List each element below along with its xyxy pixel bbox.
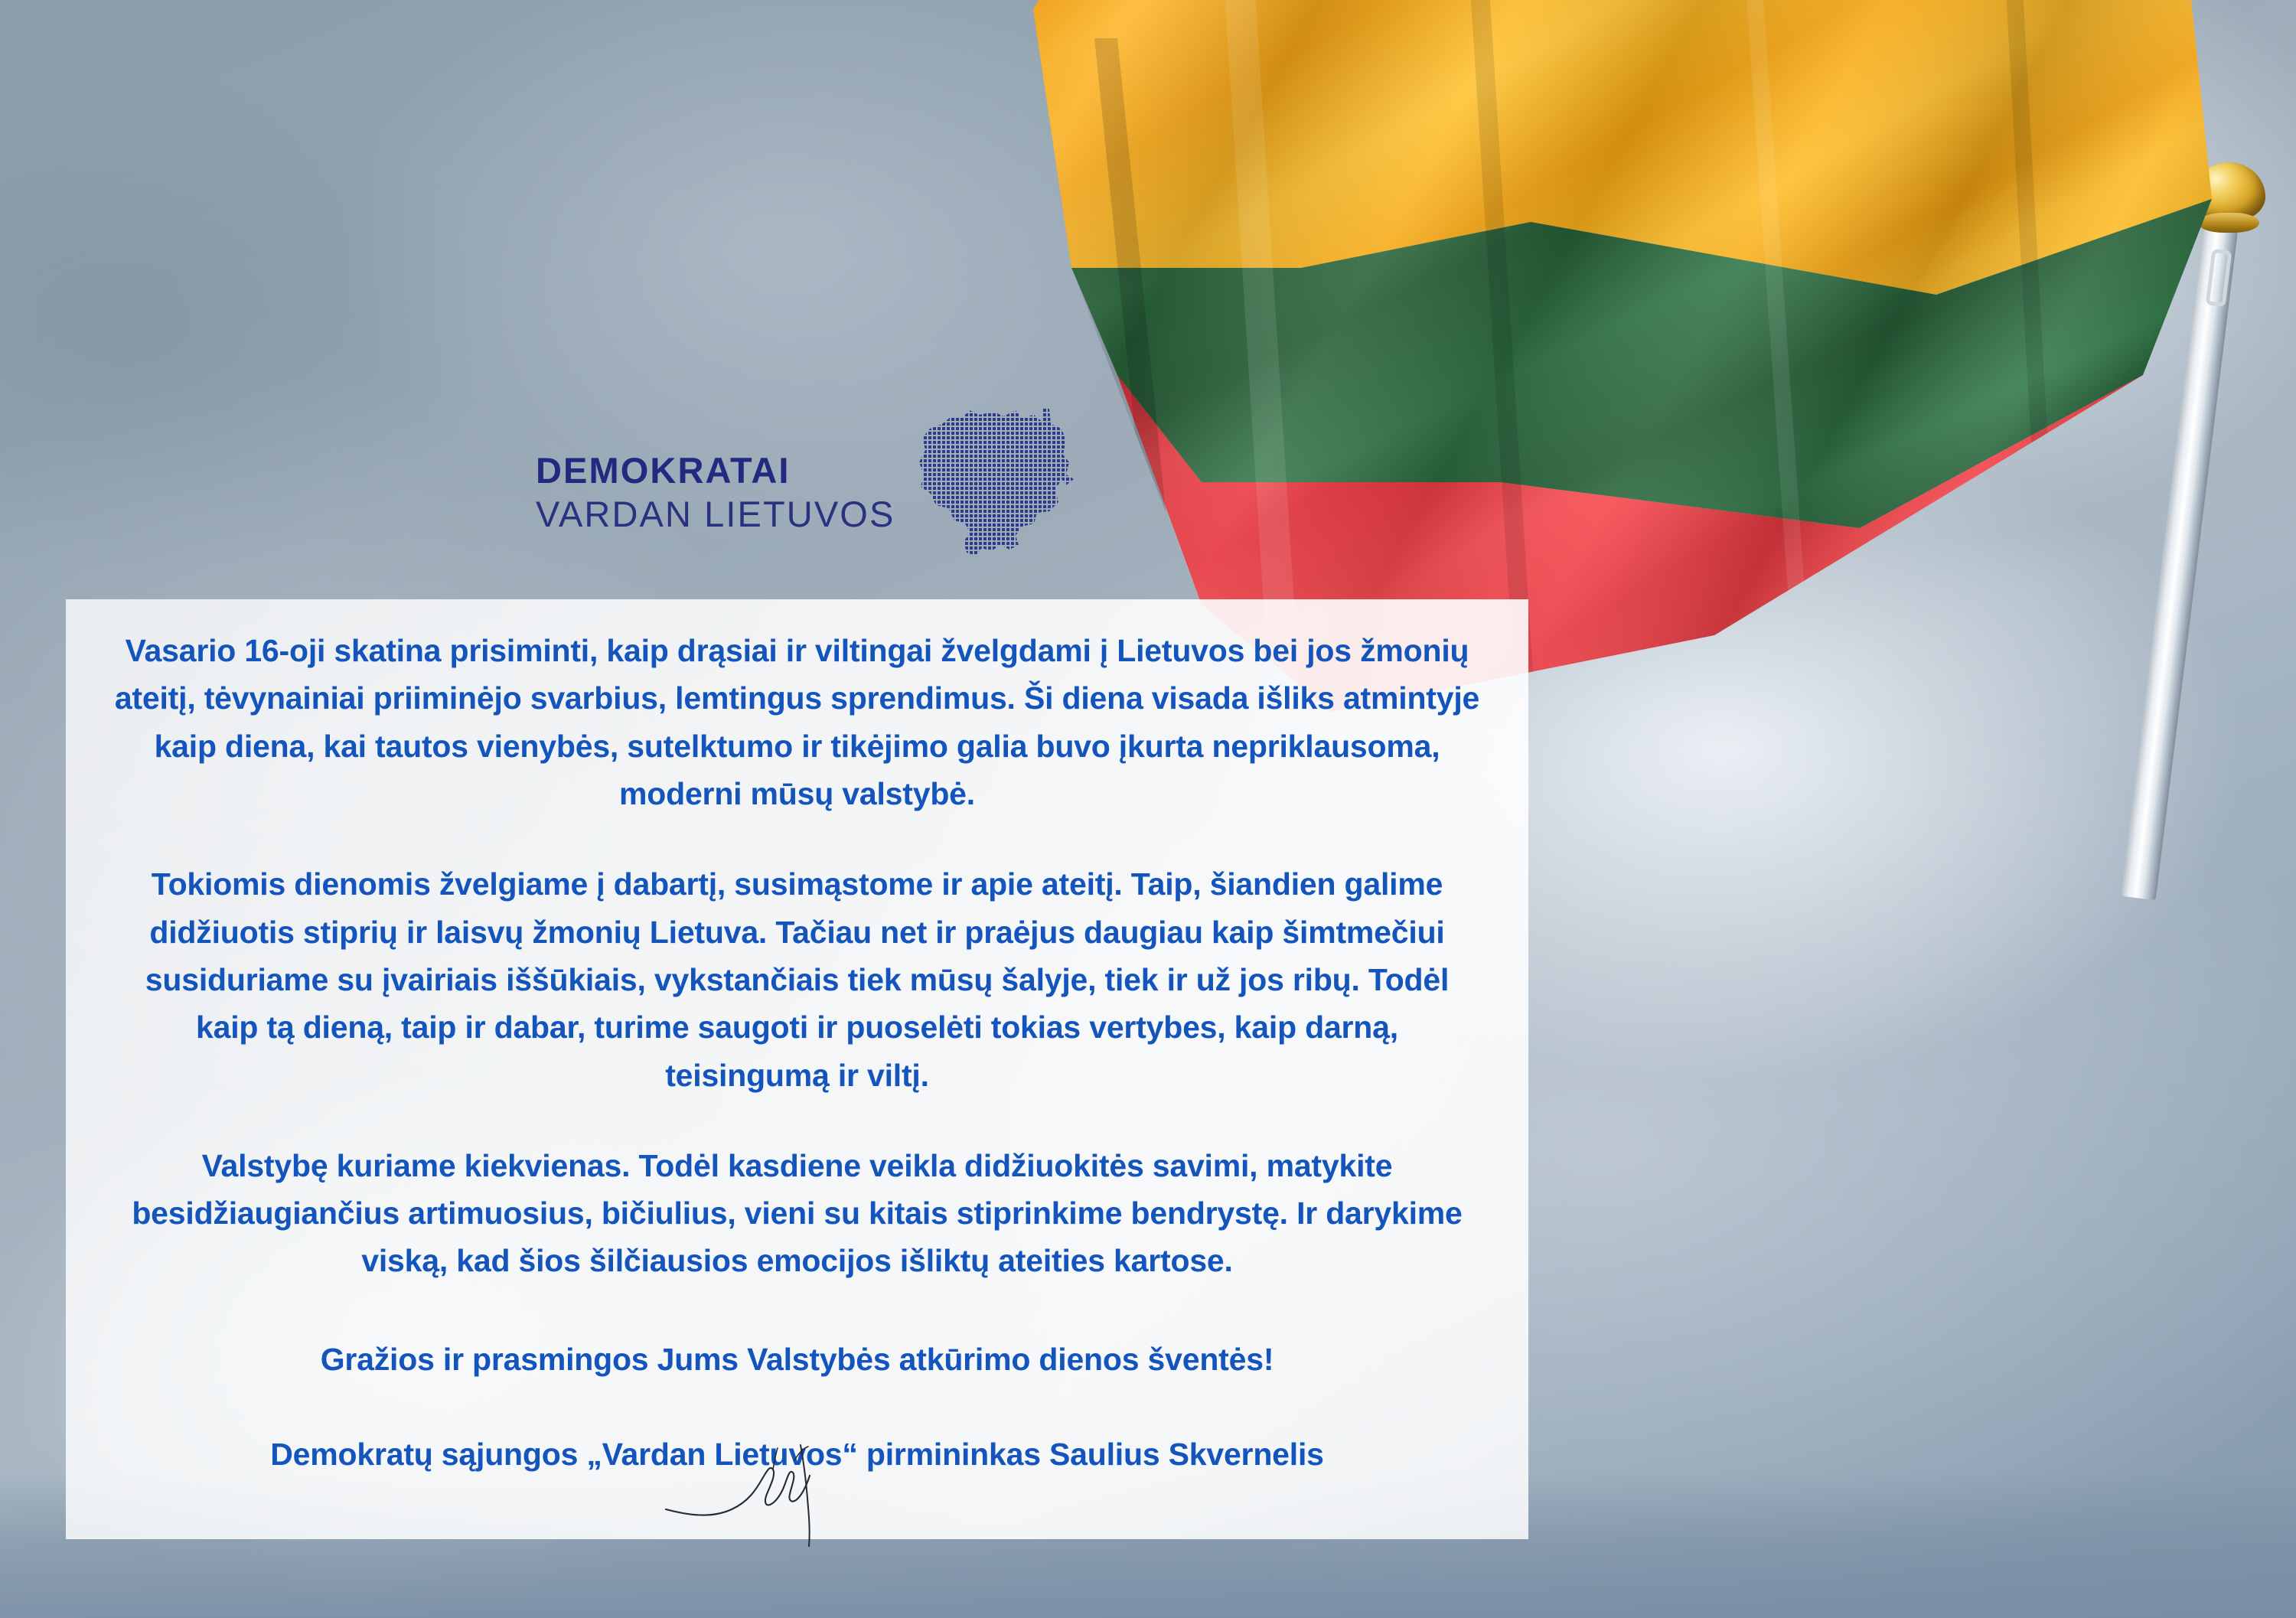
logo-title: DEMOKRATAI	[536, 452, 895, 488]
logo-text: DEMOKRATAI VARDAN LIETUVOS	[536, 452, 895, 532]
paragraph-3: Valstybę kuriame kiekvienas. Todėl kasdi…	[110, 1142, 1484, 1285]
paragraph-2: Tokiomis dienomis žvelgiame į dabartį, s…	[110, 860, 1484, 1099]
handwritten-signature	[658, 1439, 903, 1554]
message-panel: Vasario 16-oji skatina prisiminti, kaip …	[66, 599, 1528, 1539]
party-logo: DEMOKRATAI VARDAN LIETUVOS	[536, 404, 1080, 580]
greeting-line: Gražios ir prasmingos Jums Valstybės atk…	[110, 1336, 1484, 1383]
poster: DEMOKRATAI VARDAN LIETUVOS Vasario	[0, 0, 2296, 1618]
logo-subtitle: VARDAN LIETUVOS	[536, 496, 895, 532]
paragraph-1: Vasario 16-oji skatina prisiminti, kaip …	[110, 627, 1484, 817]
lithuania-map-dotted-icon	[915, 404, 1080, 580]
